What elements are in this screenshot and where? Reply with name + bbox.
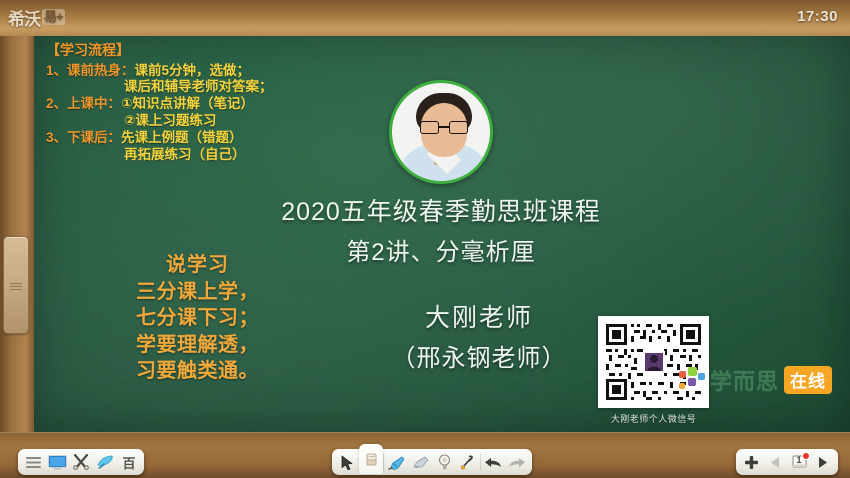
tools-icon[interactable] (69, 451, 93, 473)
chalkboard-canvas[interactable]: 【学习流程】 1、课前热身： 课前5分钟，选做； 课后和辅导老师对答案； 2、上… (32, 30, 850, 432)
teacher-name-block: 大刚老师 （邢永钢老师） (364, 298, 594, 373)
prev-page-button[interactable] (763, 451, 787, 473)
spotlight-icon[interactable] (432, 451, 456, 473)
brand-watermark: 学而思 在线 (679, 364, 832, 396)
next-page-button[interactable] (811, 451, 835, 473)
pen-toolbar[interactable] (332, 449, 532, 475)
qr-caption: 大刚老师个人微信号 (598, 412, 709, 425)
menu-icon[interactable] (21, 451, 45, 473)
grip-icon (10, 281, 22, 290)
seewo-logo[interactable]: 希沃 易+ (8, 4, 84, 30)
glasses-icon (420, 121, 468, 134)
portrait-illustration (392, 83, 490, 181)
motto-line: 习要触类通。 (136, 358, 259, 385)
study-flow-row: 再拓展练习（自己） (46, 147, 391, 163)
study-flow-block: 【学习流程】 1、课前热身： 课前5分钟，选做； 课后和辅导老师对答案； 2、上… (46, 42, 391, 164)
study-flow-body: 先课上例题（错题） (121, 130, 243, 146)
teacher-real-name: （邢永钢老师） (364, 338, 594, 373)
motto-line: 七分课下习； (136, 305, 259, 332)
magic-wand-icon[interactable] (456, 451, 480, 473)
baidu-icon[interactable]: 百 (117, 451, 141, 473)
study-flow-body: 再拓展练习（自己） (124, 147, 246, 163)
screen-icon[interactable] (45, 451, 69, 473)
top-wood-frame (0, 0, 850, 36)
system-clock: 17:30 (797, 8, 838, 25)
xueersi-logo-icon (679, 367, 705, 393)
brand-name: 学而思 (710, 364, 779, 396)
baidu-icon-label: 百 (122, 453, 135, 472)
study-flow-body: ①知识点讲解（笔记） (121, 96, 254, 112)
marker-icon[interactable] (384, 451, 408, 473)
redo-icon[interactable] (505, 451, 529, 473)
study-flow-title: 【学习流程】 (46, 42, 391, 59)
study-flow-lead: 2、上课中： (46, 96, 121, 112)
study-flow-row: 课后和辅导老师对答案； (46, 79, 391, 95)
motto-heading: 说学习 (136, 252, 259, 279)
page-indicator-button[interactable]: 1 (787, 451, 811, 473)
study-flow-row: 2、上课中： ①知识点讲解（笔记） (46, 96, 391, 112)
seewo-logo-text: 希沃 (8, 5, 40, 30)
teacher-nickname: 大刚老师 (364, 298, 594, 334)
teacher-portrait-avatar (389, 80, 493, 184)
seewo-logo-badge: 易+ (42, 9, 65, 25)
cursor-icon[interactable] (335, 451, 359, 473)
page-toolbar[interactable]: 1 (736, 449, 838, 475)
eraser-icon[interactable] (359, 444, 383, 474)
study-flow-lead: 1、课前热身： (46, 63, 135, 79)
study-flow-lead: 3、下课后： (46, 130, 121, 146)
highlighter-icon[interactable] (408, 451, 432, 473)
study-flow-row: 3、下课后： 先课上例题（错题） (46, 130, 391, 146)
course-title-line1: 2020五年级春季勤思班课程 (32, 192, 850, 228)
add-page-button[interactable] (739, 451, 763, 473)
left-toolbar[interactable]: 百 (18, 449, 144, 475)
whiteboard-app-screen: 【学习流程】 1、课前热身： 课前5分钟，选做； 课后和辅导老师对答案； 2、上… (0, 0, 850, 478)
motto-line: 三分课上学， (136, 279, 259, 306)
study-flow-body: 课后和辅导老师对答案； (124, 79, 273, 95)
notification-badge-icon (802, 452, 810, 460)
side-drawer-handle[interactable] (3, 236, 29, 334)
brand-badge: 在线 (784, 366, 832, 394)
motto-line: 学要理解透， (136, 332, 259, 359)
study-motto-block: 说学习 三分课上学， 七分课下习； 学要理解透， 习要触类通。 (136, 252, 259, 385)
study-flow-body: ②课上习题练习 (124, 113, 216, 129)
undo-icon[interactable] (481, 451, 505, 473)
study-flow-row: ②课上习题练习 (46, 113, 391, 129)
study-flow-row: 1、课前热身： 课前5分钟，选做； (46, 63, 391, 79)
paint-icon[interactable] (93, 451, 117, 473)
study-flow-body: 课前5分钟，选做； (135, 63, 251, 79)
